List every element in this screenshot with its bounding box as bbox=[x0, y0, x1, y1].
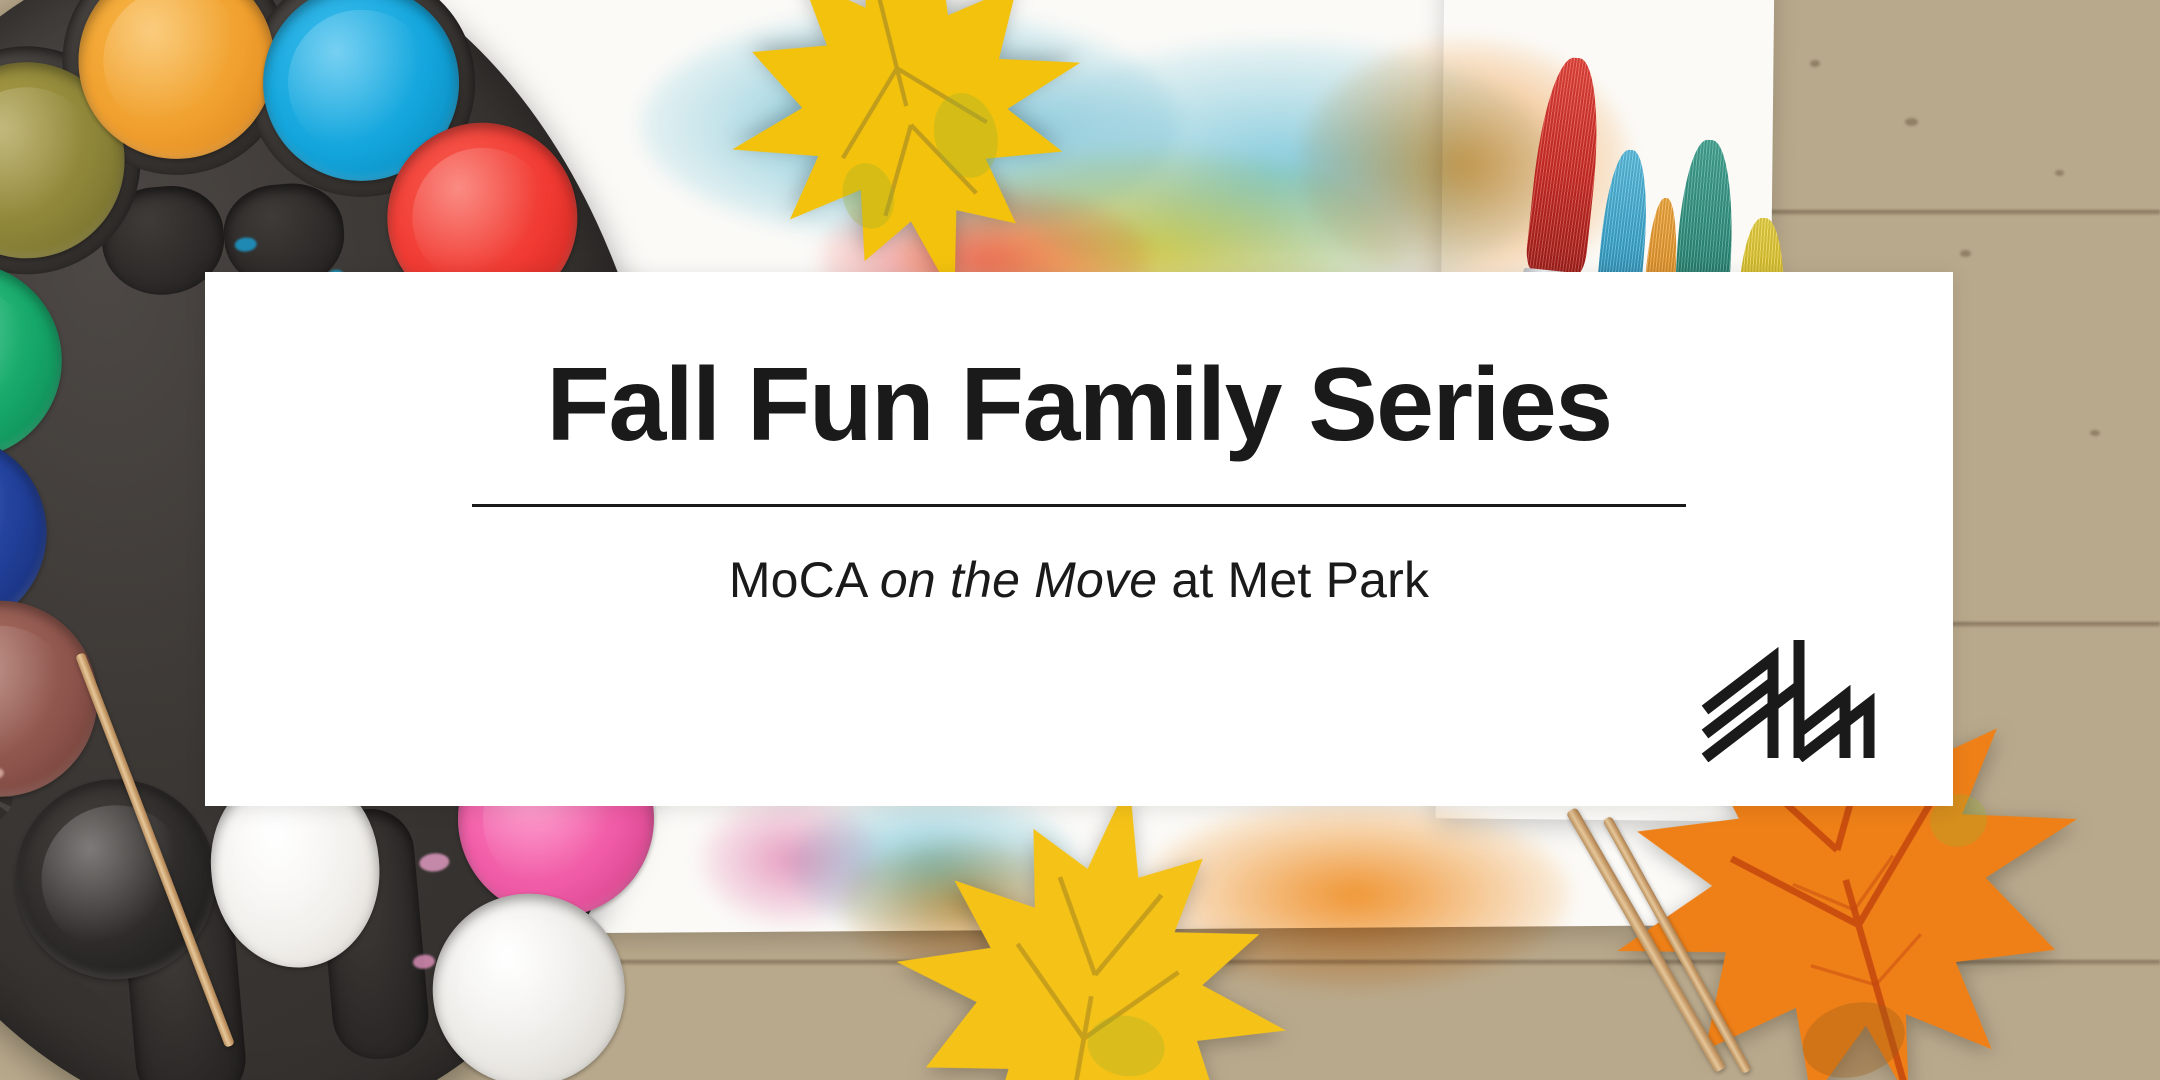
subtitle-emphasis: on the Move bbox=[880, 552, 1157, 608]
wood-knot bbox=[1905, 118, 1918, 126]
wood-knot bbox=[2090, 430, 2100, 436]
wood-knot bbox=[1810, 60, 1820, 67]
palette-well-green bbox=[0, 254, 70, 466]
paint-stroke-pink bbox=[700, 795, 880, 925]
title-card: Fall Fun Family Series MoCA on the Move … bbox=[205, 272, 1953, 806]
wood-knot bbox=[1960, 250, 1971, 257]
moca-logo bbox=[1699, 634, 1875, 762]
event-banner: Fall Fun Family Series MoCA on the Move … bbox=[0, 0, 2160, 1080]
subtitle-tail: at Met Park bbox=[1157, 552, 1429, 608]
subtitle-lead: MoCA bbox=[729, 552, 880, 608]
title-divider bbox=[472, 504, 1686, 507]
page-title: Fall Fun Family Series bbox=[301, 350, 1857, 460]
paint-splatter bbox=[412, 954, 435, 970]
subtitle: MoCA on the Move at Met Park bbox=[301, 551, 1857, 609]
wood-knot bbox=[2055, 170, 2064, 176]
paint-splatter bbox=[419, 852, 450, 873]
palette-well-maroon bbox=[0, 593, 106, 805]
